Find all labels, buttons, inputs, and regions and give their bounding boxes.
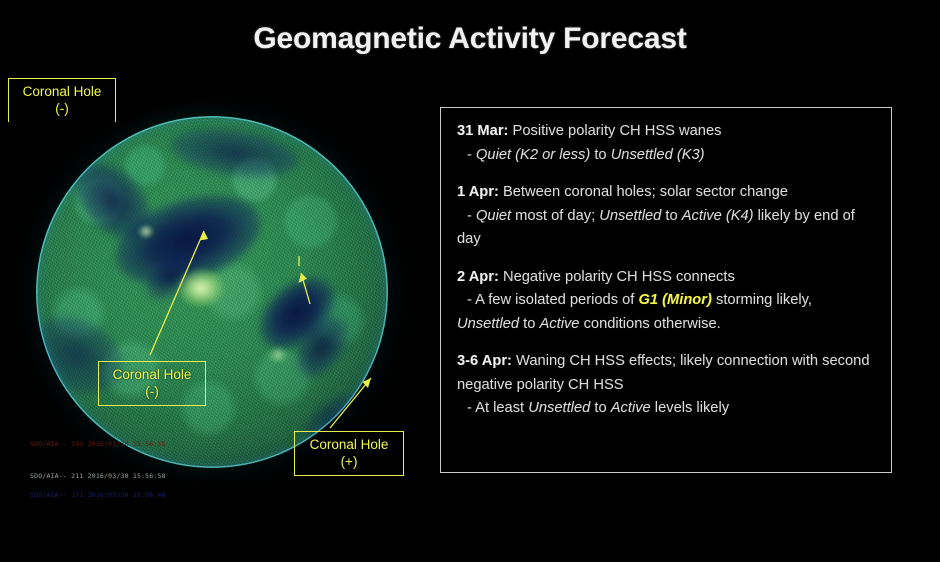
- forecast-block: 2 Apr: Negative polarity CH HSS connects…: [457, 266, 877, 337]
- forecast-detail-line: - A few isolated periods of G1 (Minor) s…: [457, 289, 877, 336]
- plain-text: conditions otherwise.: [579, 316, 720, 332]
- forecast-date: 31 Mar:: [457, 123, 508, 139]
- forecast-detail-line: - Quiet most of day; Unsettled to Active…: [457, 205, 877, 252]
- forecast-date: 3-6 Apr:: [457, 353, 512, 369]
- forecast-headline-text: Positive polarity CH HSS wanes: [508, 123, 721, 139]
- storm-level-badge: G1 (Minor): [638, 292, 711, 308]
- plain-text: to: [590, 400, 610, 416]
- forecast-headline-text: Waning CH HSS effects; likely connection…: [457, 353, 870, 393]
- emphasis-text: Unsettled: [528, 400, 590, 416]
- annotation-polarity: (-): [105, 383, 199, 400]
- forecast-date: 2 Apr:: [457, 269, 499, 285]
- forecast-headline: 3-6 Apr: Waning CH HSS effects; likely c…: [457, 350, 877, 397]
- forecast-headline: 31 Mar: Positive polarity CH HSS wanes: [457, 120, 877, 144]
- plain-text: to: [519, 316, 539, 332]
- annotation-coronal-hole-bottom: Coronal Hole (+): [294, 431, 404, 476]
- emphasis-text: Quiet (K2 or less): [476, 147, 590, 163]
- slide-canvas: Geomagnetic Activity Forecast: [0, 0, 940, 562]
- forecast-headline-text: Negative polarity CH HSS connects: [499, 269, 735, 285]
- plain-text: levels likely: [651, 400, 729, 416]
- plain-text: - A few isolated periods of: [467, 292, 638, 308]
- plain-text: - At least: [467, 400, 528, 416]
- emphasis-text: Quiet: [476, 208, 511, 224]
- plain-text: to: [661, 208, 681, 224]
- emphasis-text: Active (K4): [682, 208, 754, 224]
- page-title: Geomagnetic Activity Forecast: [0, 22, 940, 56]
- sdo-aia-193-caption: SDO/AIA-- 193 2016/03/30 15:56:55: [30, 440, 166, 448]
- annotation-label: Coronal Hole: [113, 367, 192, 382]
- plain-text: -: [467, 147, 476, 163]
- sdo-aia-211-caption: SDO/AIA-- 211 2016/03/30 15:56:58: [30, 472, 166, 480]
- forecast-block: 1 Apr: Between coronal holes; solar sect…: [457, 181, 877, 252]
- sdo-aia-171-caption: SDO/AIA-- 171 2016/03/30 15:56:48: [30, 491, 166, 499]
- annotation-polarity: (+): [301, 453, 397, 470]
- forecast-text-panel: 31 Mar: Positive polarity CH HSS wanes -…: [440, 107, 892, 473]
- annotation-coronal-hole-left: Coronal Hole (-): [98, 361, 206, 406]
- forecast-headline: 1 Apr: Between coronal holes; solar sect…: [457, 181, 877, 205]
- emphasis-text: Unsettled: [457, 316, 519, 332]
- forecast-date: 1 Apr:: [457, 184, 499, 200]
- annotation-label: Coronal Hole: [310, 437, 389, 452]
- emphasis-text: Active: [611, 400, 651, 416]
- solar-disk: [36, 116, 388, 468]
- plain-text: most of day;: [511, 208, 599, 224]
- forecast-block: 31 Mar: Positive polarity CH HSS wanes -…: [457, 120, 877, 167]
- plain-text: -: [467, 208, 476, 224]
- forecast-block: 3-6 Apr: Waning CH HSS effects; likely c…: [457, 350, 877, 421]
- forecast-headline-text: Between coronal holes; solar sector chan…: [499, 184, 788, 200]
- limb-ring: [36, 116, 388, 468]
- forecast-block-list: 31 Mar: Positive polarity CH HSS wanes -…: [457, 120, 877, 421]
- emphasis-text: Unsettled (K3): [611, 147, 705, 163]
- emphasis-text: Unsettled: [599, 208, 661, 224]
- forecast-detail-line: - At least Unsettled to Active levels li…: [457, 397, 877, 421]
- forecast-detail-line: - Quiet (K2 or less) to Unsettled (K3): [457, 144, 877, 168]
- annotation-label: Coronal Hole: [23, 84, 102, 99]
- plain-text: storming likely,: [712, 292, 812, 308]
- emphasis-text: Active: [539, 316, 579, 332]
- forecast-headline: 2 Apr: Negative polarity CH HSS connects: [457, 266, 877, 290]
- plain-text: to: [590, 147, 610, 163]
